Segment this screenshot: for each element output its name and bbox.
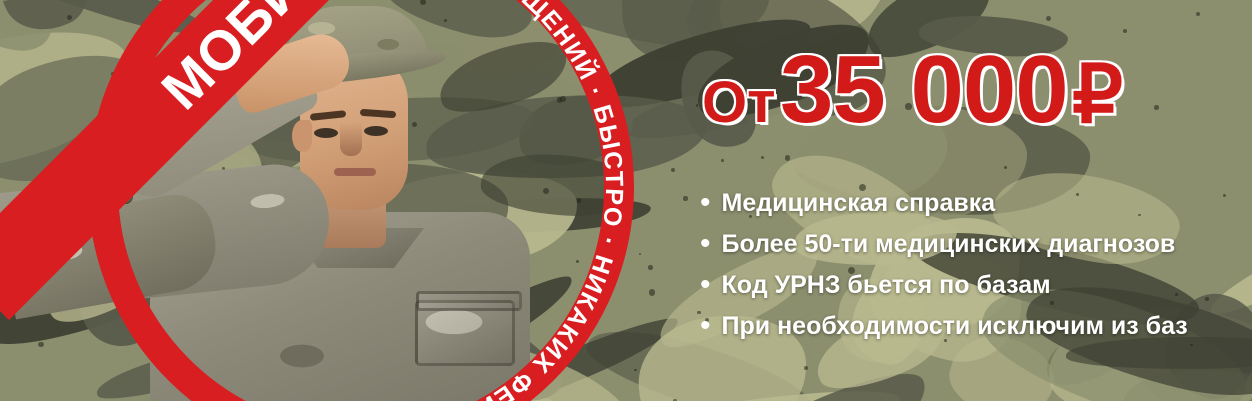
feature-item-label: Более 50-ти медицинских диагнозов [722,229,1176,259]
feature-item: •При необходимости исключим из баз [700,311,1248,341]
camo-speck [671,168,675,172]
promo-banner: БЕЗ ПОСЕЩЕНИЙ · БЫСТРО · НИКАКИХ ФЕЙКОВ … [0,0,1252,401]
bullet-dot-icon: • [700,229,711,259]
price-amount: 35 000 [780,36,1068,143]
banner-right-column: От 35 000 ₽ •Медицинская справка•Более 5… [690,0,1252,401]
feature-list: •Медицинская справка•Более 50-ти медицин… [700,188,1248,352]
camo-speck [648,265,652,269]
feature-item-label: При необходимости исключим из баз [722,311,1188,341]
feature-item: •Код УРНЗ бьется по базам [700,270,1248,300]
feature-item: •Медицинская справка [700,188,1248,218]
bullet-dot-icon: • [700,311,711,341]
camo-speck [634,369,636,371]
camo-speck [649,289,655,295]
price-block: От 35 000 ₽ [702,42,1123,138]
feature-item: •Более 50-ти медицинских диагнозов [700,229,1248,259]
camo-speck [639,253,641,255]
ring-text-path: БЕЗ ПОСЕЩЕНИЙ · БЫСТРО · НИКАКИХ ФЕЙКОВ [391,0,628,401]
price-from-label: От [702,70,776,135]
price-currency: ₽ [1072,50,1123,139]
bullet-dot-icon: • [700,188,711,218]
camo-speck [683,196,687,200]
feature-item-label: Код УРНЗ бьется по базам [722,270,1051,300]
feature-item-label: Медицинская справка [722,188,996,218]
bullet-dot-icon: • [700,270,711,300]
